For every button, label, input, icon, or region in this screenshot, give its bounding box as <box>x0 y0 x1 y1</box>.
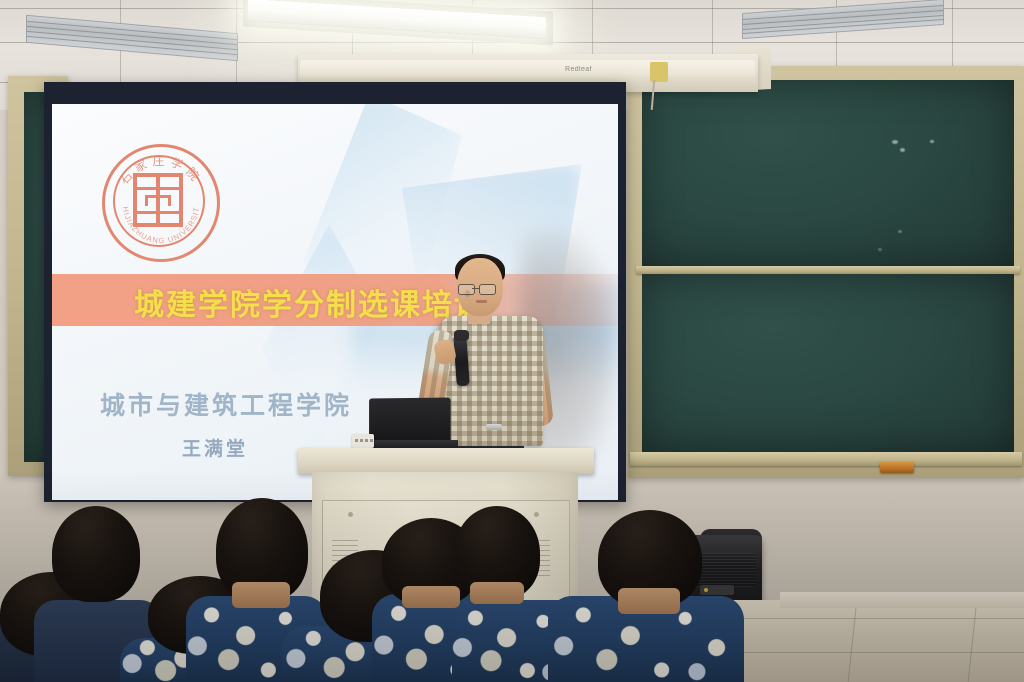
platform-edge <box>780 592 1024 608</box>
ceiling-light-right <box>742 0 944 39</box>
seal-emblem <box>129 171 187 229</box>
slide-subtitle: 城市与建筑工程学院 <box>100 386 352 422</box>
lectern-knob-left[interactable] <box>348 512 353 517</box>
classroom-photo: Redleaf 石家庄学院 SHIJIAZHUANG UNIVERSITY <box>0 0 1024 682</box>
ceiling-light-left <box>26 15 238 62</box>
presenter-glasses-bridge <box>472 288 479 289</box>
lectern-knob-right[interactable] <box>534 512 539 517</box>
laptop-screen[interactable] <box>369 398 451 443</box>
pa-speaker-led <box>704 588 708 592</box>
blackboard-middle-rail <box>636 266 1020 274</box>
lectern-top <box>298 448 594 474</box>
presenter-glasses-right <box>479 284 496 295</box>
blackboard-surface-upper <box>642 80 1014 268</box>
wristwatch <box>486 424 502 430</box>
chalk-ledge <box>630 452 1022 466</box>
blackboard-eraser[interactable] <box>880 462 914 473</box>
audience-member-8-neck <box>618 588 680 614</box>
screen-roller-casing <box>300 60 755 82</box>
audience-member-3-neck <box>232 582 290 608</box>
presenter-glasses-left <box>458 284 475 295</box>
screen-brand-label: Redleaf <box>565 66 635 76</box>
microphone-head <box>454 330 469 341</box>
blackboard-surface-lower <box>642 274 1014 452</box>
slide-presenter-name: 王满堂 <box>182 434 248 461</box>
audience-member-1-head <box>52 506 140 602</box>
presenter-remote[interactable] <box>352 434 374 448</box>
audience-member-5-neck <box>402 586 460 608</box>
university-seal-logo: 石家庄学院 SHIJIAZHUANG UNIVERSITY <box>102 144 220 262</box>
audience-member-6-neck <box>470 582 524 604</box>
